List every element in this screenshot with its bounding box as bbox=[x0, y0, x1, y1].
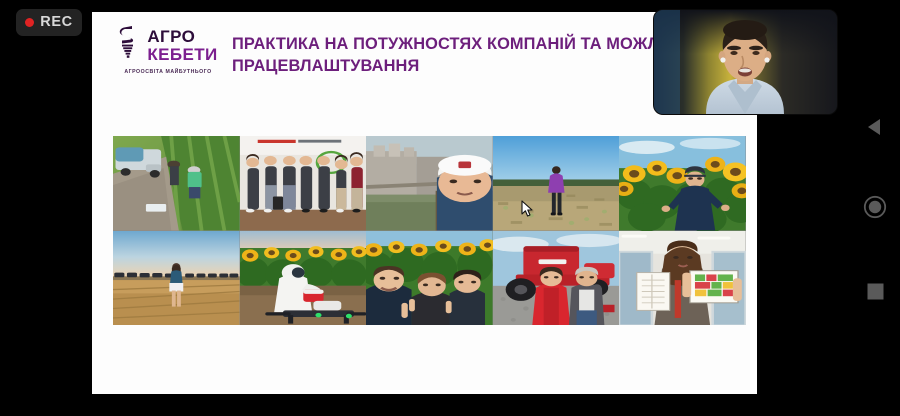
stop-square-icon bbox=[867, 283, 884, 300]
speaker-video-tile[interactable] bbox=[654, 10, 837, 114]
recording-label: REC bbox=[40, 15, 72, 30]
gallery-photo bbox=[113, 231, 240, 326]
gallery-photo bbox=[113, 136, 240, 231]
stop-button[interactable] bbox=[862, 278, 888, 304]
gallery-photo bbox=[493, 231, 620, 326]
recording-indicator-badge: REC bbox=[16, 9, 82, 36]
triangle-left-icon bbox=[865, 117, 885, 137]
previous-slide-button[interactable] bbox=[860, 112, 890, 142]
gallery-photo bbox=[493, 136, 620, 231]
agro-kebety-logo-mark-icon bbox=[118, 26, 144, 65]
photo-gallery-grid bbox=[113, 136, 746, 325]
logo-word-bottom: КЕБЕТИ bbox=[147, 46, 217, 63]
gallery-photo bbox=[240, 136, 367, 231]
logo-word-top: АГРО bbox=[147, 28, 195, 45]
logo-tagline: АГРООСВІТА МАЙБУТНЬОГО bbox=[108, 69, 228, 75]
record-circle-icon bbox=[863, 195, 887, 219]
gallery-photo bbox=[619, 136, 746, 231]
gallery-photo bbox=[366, 136, 493, 231]
gallery-photo bbox=[366, 231, 493, 326]
gallery-photo bbox=[619, 231, 746, 326]
brand-logo: АГРО КЕБЕТИ АГРООСВІТА МАЙБУТНЬОГО bbox=[108, 26, 228, 75]
gallery-photo bbox=[240, 231, 367, 326]
screen-recording-view: REC bbox=[0, 0, 900, 416]
record-button[interactable] bbox=[860, 192, 890, 222]
record-dot-icon bbox=[25, 18, 34, 27]
